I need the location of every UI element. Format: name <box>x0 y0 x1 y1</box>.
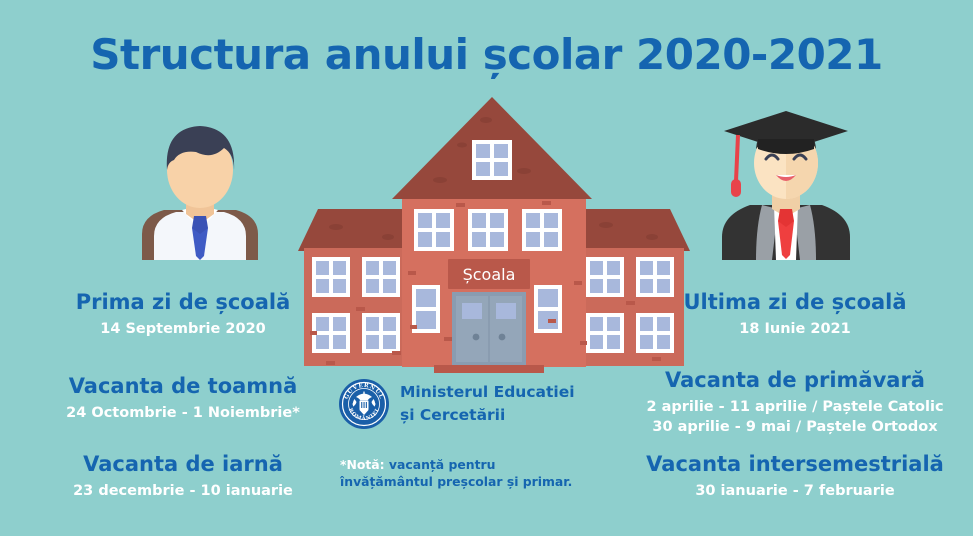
intersemester-vacation-heading: Vacanta intersemestrială <box>625 452 965 476</box>
last-day-heading: Ultima zi de școală <box>625 290 965 314</box>
block-last-day: Ultima zi de școală 18 Iunie 2021 <box>625 290 965 340</box>
block-spring-vacation: Vacanta de primăvară 2 aprilie - 11 apri… <box>625 368 965 437</box>
graduate-icon <box>706 105 866 260</box>
autumn-vacation-date: 24 Octombrie - 1 Noiembrie* <box>18 404 348 424</box>
block-winter-vacation: Vacanta de iarnă 23 decembrie - 10 ianua… <box>18 452 348 502</box>
block-intersemester-vacation: Vacanta intersemestrială 30 ianuarie - 7… <box>625 452 965 502</box>
block-autumn-vacation: Vacanta de toamnă 24 Octombrie - 1 Noiem… <box>18 374 348 424</box>
spring-vacation-date-orthodox: 30 aprilie - 9 mai / Paștele Ortodox <box>625 418 965 438</box>
student-avatar <box>124 108 276 260</box>
student-icon <box>124 108 276 260</box>
first-day-heading: Prima zi de școală <box>18 290 348 314</box>
school-sign-label: Școala <box>463 265 516 284</box>
intersemester-vacation-date: 30 ianuarie - 7 februarie <box>625 482 965 502</box>
footnote-label: Notă: <box>346 457 384 472</box>
last-day-date: 18 Iunie 2021 <box>625 320 965 340</box>
infographic-poster: Structura anului școlar 2020-2021 <box>0 0 973 536</box>
autumn-vacation-heading: Vacanta de toamnă <box>18 374 348 398</box>
graduate-avatar <box>706 105 866 260</box>
ministry-block: GUVERNUL ROMÂNIEI Min <box>338 378 600 430</box>
block-first-day: Prima zi de școală 14 Septembrie 2020 <box>18 290 348 340</box>
winter-vacation-heading: Vacanta de iarnă <box>18 452 348 476</box>
school-sign: Școala <box>448 259 530 289</box>
footnote: *Notă: vacanță pentru învățământul preșc… <box>340 457 590 490</box>
spring-vacation-heading: Vacanta de primăvară <box>625 368 965 392</box>
page-title: Structura anului școlar 2020-2021 <box>0 30 973 79</box>
center-upper-windows <box>414 209 562 251</box>
ministry-name-line2: și Cercetării <box>400 404 575 427</box>
spring-vacation-date-catholic: 2 aprilie - 11 aprilie / Paștele Catolic <box>625 398 965 418</box>
government-seal-icon: GUVERNUL ROMÂNIEI <box>338 378 390 430</box>
winter-vacation-date: 23 decembrie - 10 ianuarie <box>18 482 348 502</box>
ministry-name-line1: Ministerul Educatiei <box>400 381 575 404</box>
attic-window <box>472 140 512 180</box>
first-day-date: 14 Septembrie 2020 <box>18 320 348 340</box>
ministry-name: Ministerul Educatiei și Cercetării <box>400 381 575 428</box>
